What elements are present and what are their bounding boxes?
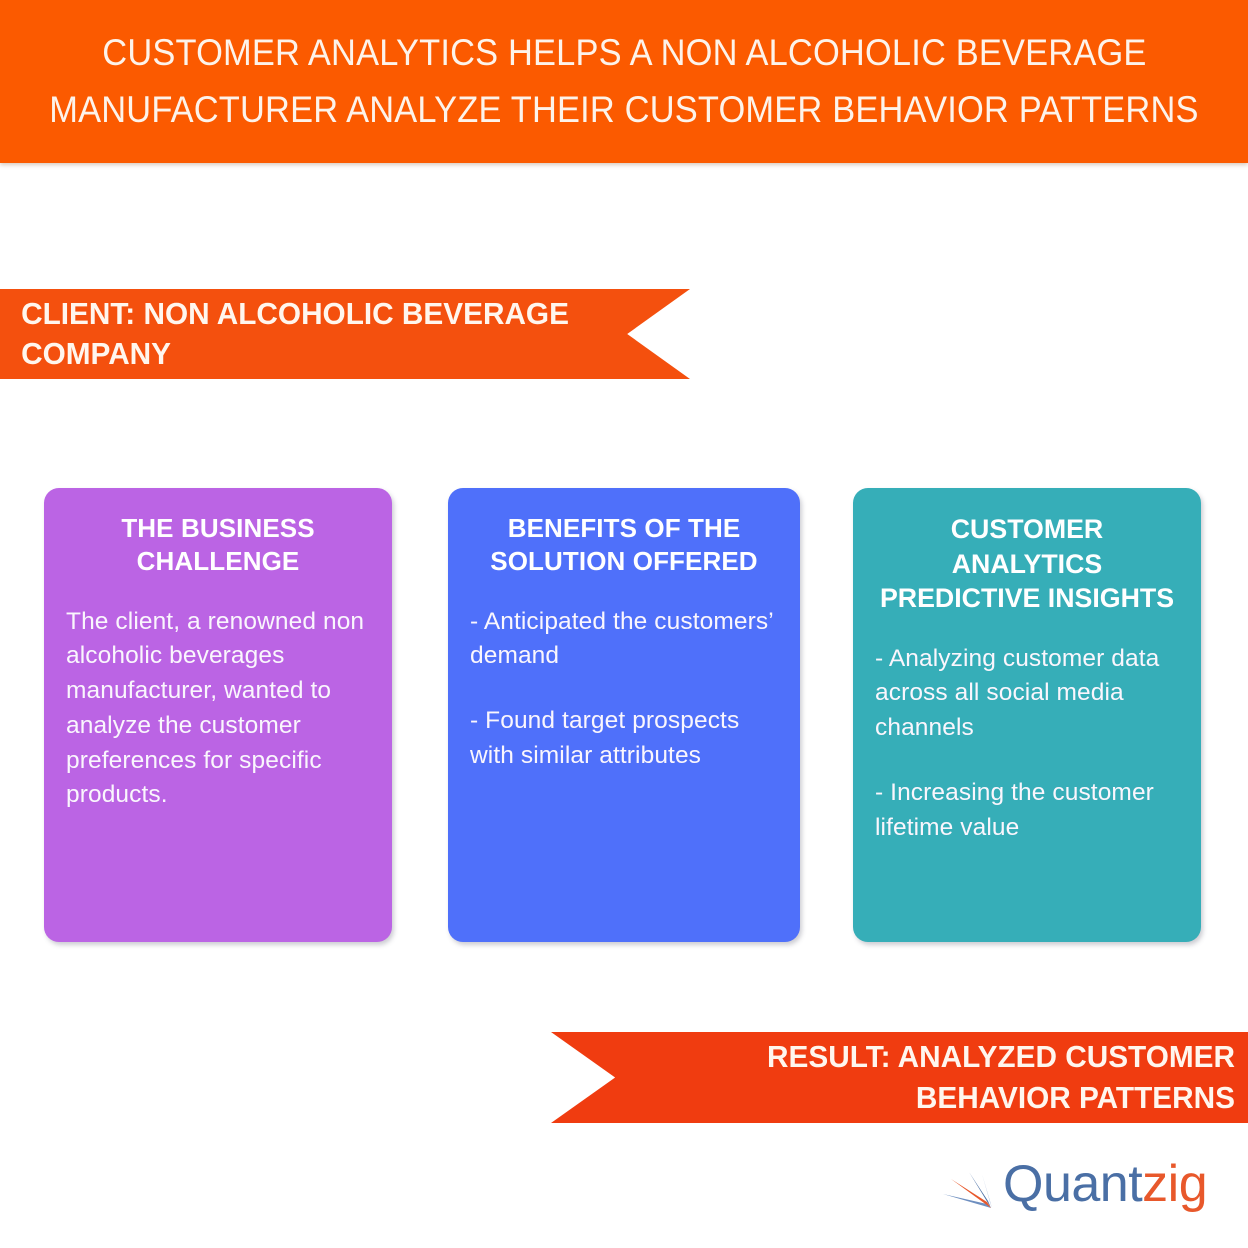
logo-word-quant: Quant: [1003, 1155, 1142, 1213]
card-paragraph: The client, a renowned non alcoholic bev…: [66, 605, 370, 814]
header-title-line-2: MANUFACTURER ANALYZE THEIR CUSTOMER BEHA…: [49, 82, 1198, 138]
result-banner: RESULT: ANALYZED CUSTOMER BEHAVIOR PATTE…: [551, 1032, 1248, 1123]
card-body: - Anticipated the customers’ demand - Fo…: [470, 605, 778, 774]
card-body: The client, a renowned non alcoholic bev…: [66, 605, 370, 814]
card-title-line-1: THE BUSINESS: [66, 512, 370, 545]
header-banner: CUSTOMER ANALYTICS HELPS A NON ALCOHOLIC…: [0, 0, 1248, 163]
card-title: BENEFITS OF THE SOLUTION OFFERED: [470, 512, 778, 579]
card-body: - Analyzing customer data across all soc…: [875, 642, 1179, 846]
card-benefits-of-solution: BENEFITS OF THE SOLUTION OFFERED - Antic…: [448, 488, 800, 942]
card-paragraph: - Increasing the customer lifetime value: [875, 776, 1179, 846]
quantzig-logo: Quantzig: [941, 1148, 1207, 1220]
quantzig-fan-icon: [941, 1154, 1001, 1214]
client-banner: CLIENT: NON ALCOHOLIC BEVERAGE COMPANY: [0, 289, 690, 379]
header-title-line-1: CUSTOMER ANALYTICS HELPS A NON ALCOHOLIC…: [102, 25, 1146, 81]
client-banner-line-2: COMPANY: [0, 334, 662, 374]
card-title-line-2: SOLUTION OFFERED: [470, 545, 778, 578]
card-title-line-1: BENEFITS OF THE: [470, 512, 778, 545]
card-title-line-2: PREDICTIVE INSIGHTS: [877, 581, 1178, 616]
card-paragraph: - Analyzing customer data across all soc…: [875, 642, 1179, 746]
logo-word-zig: zig: [1142, 1155, 1207, 1213]
result-banner-line-2: BEHAVIOR PATTERNS: [915, 1078, 1248, 1118]
card-predictive-insights: CUSTOMER ANALYTICS PREDICTIVE INSIGHTS -…: [853, 488, 1201, 942]
card-title-line-1: CUSTOMER ANALYTICS: [877, 512, 1178, 581]
card-title: THE BUSINESS CHALLENGE: [66, 512, 370, 579]
card-business-challenge: THE BUSINESS CHALLENGE The client, a ren…: [44, 488, 392, 942]
client-banner-line-1: CLIENT: NON ALCOHOLIC BEVERAGE: [0, 294, 662, 334]
logo-wordmark: Quantzig: [1003, 1158, 1207, 1210]
card-paragraph: - Anticipated the customers’ demand: [470, 605, 778, 675]
card-title-line-2: CHALLENGE: [66, 545, 370, 578]
result-banner-line-1: RESULT: ANALYZED CUSTOMER: [767, 1037, 1248, 1077]
cards-row: THE BUSINESS CHALLENGE The client, a ren…: [0, 488, 1248, 944]
card-paragraph: - Found target prospects with similar at…: [470, 704, 778, 774]
card-title: CUSTOMER ANALYTICS PREDICTIVE INSIGHTS: [877, 512, 1178, 616]
